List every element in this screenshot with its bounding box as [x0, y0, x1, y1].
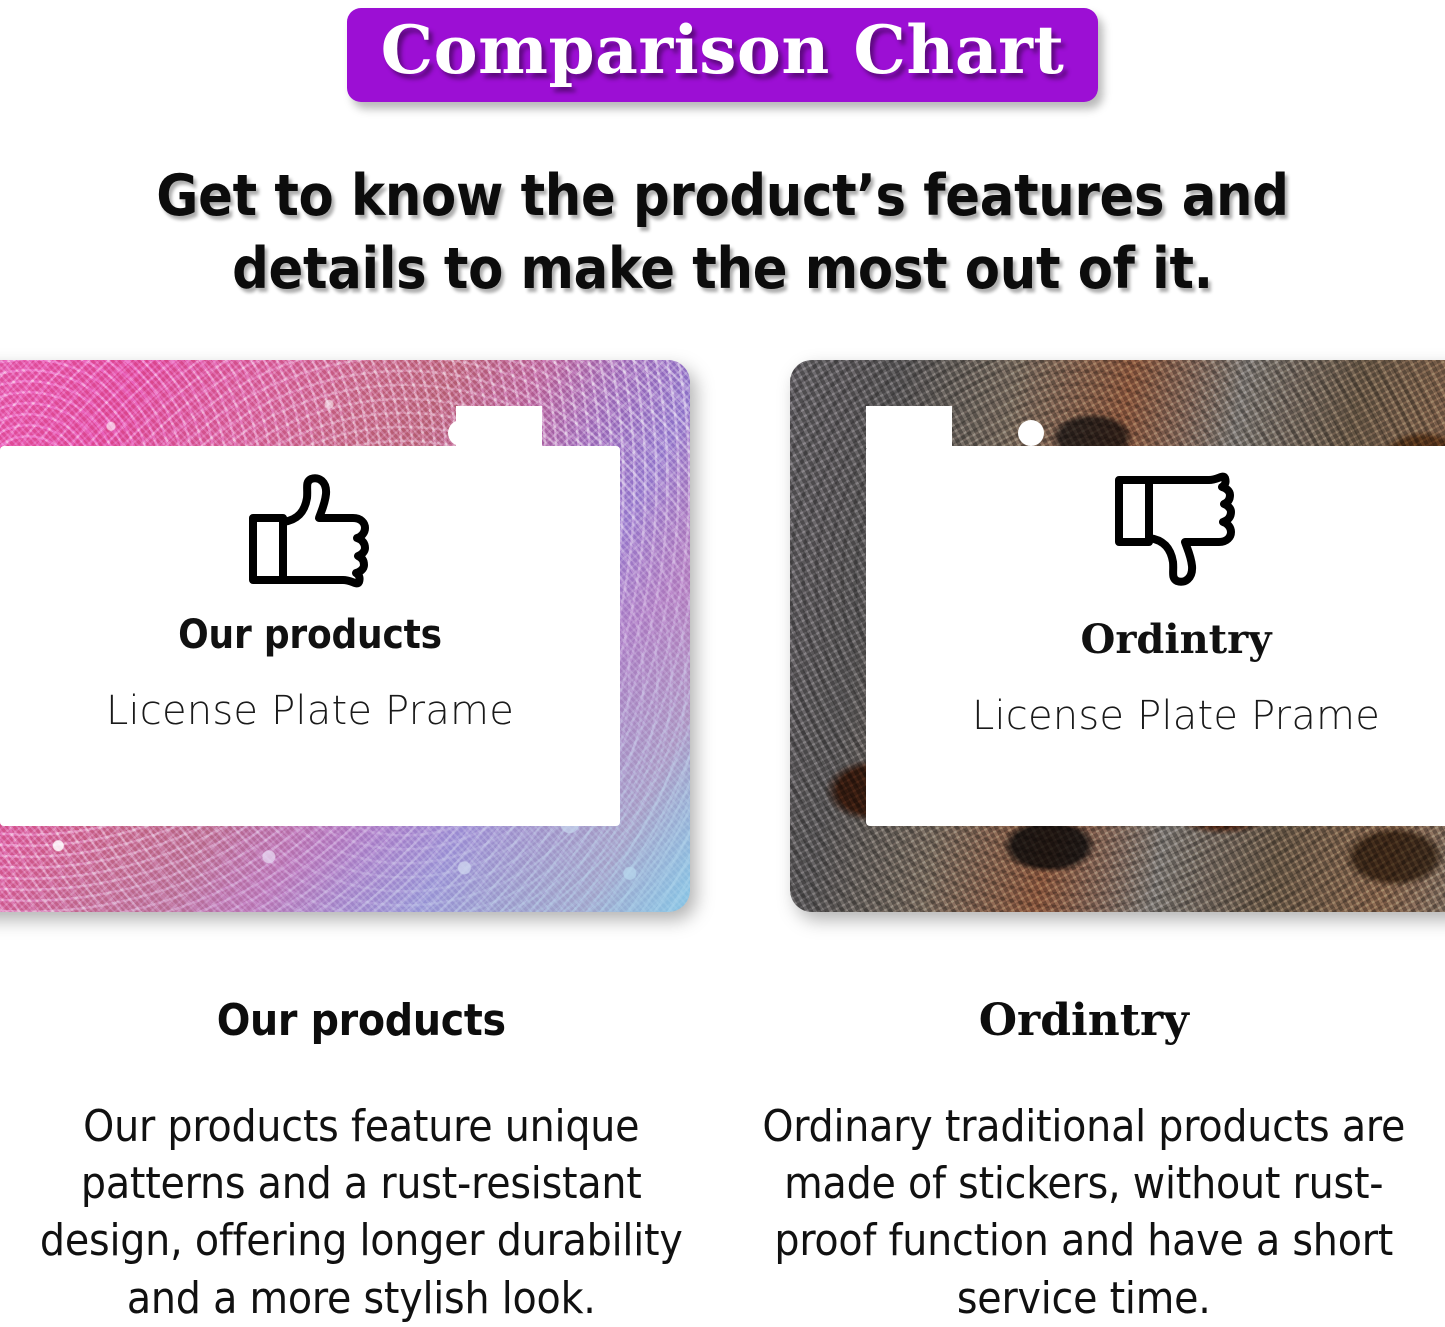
product-frame-ordinary: Ordintry License Plate Prame — [790, 360, 1445, 912]
frame-brand-right: Ordintry — [866, 616, 1445, 663]
title-banner-container: Comparison Chart — [0, 8, 1445, 102]
title-banner: Comparison Chart — [347, 8, 1099, 102]
product-frame-ours: Our products License Plate Prame — [0, 360, 690, 912]
description-columns: Our products Our products feature unique… — [0, 995, 1445, 1314]
column-body-ours: Our products feature unique patterns and… — [36, 1098, 687, 1327]
product-frames-row: Our products License Plate Prame Ordintr… — [0, 352, 1445, 922]
mounting-hole-right — [1018, 420, 1044, 446]
page-title: Comparison Chart — [381, 14, 1065, 88]
description-column-ours: Our products Our products feature unique… — [0, 995, 723, 1314]
mounting-hole-left — [448, 420, 474, 446]
description-column-ordinary: Ordintry Ordinary traditional products a… — [723, 995, 1445, 1314]
thumbs-down-icon — [1113, 472, 1239, 594]
column-body-ordinary: Ordinary traditional products are made o… — [759, 1098, 1410, 1327]
frame-content-right: Ordintry License Plate Prame — [866, 472, 1445, 739]
frame-brand-left: Our products — [0, 612, 620, 658]
frame-subbrand-left: License Plate Prame — [0, 688, 620, 734]
thumbs-up-icon — [247, 472, 373, 590]
frame-subbrand-right: License Plate Prame — [866, 693, 1445, 739]
page-subtitle: Get to know the product’s features and d… — [0, 160, 1445, 306]
column-title-ordinary: Ordintry — [759, 995, 1410, 1046]
frame-chamfer-right — [866, 406, 952, 448]
column-title-ours: Our products — [36, 995, 687, 1046]
frame-content-left: Our products License Plate Prame — [0, 472, 620, 734]
